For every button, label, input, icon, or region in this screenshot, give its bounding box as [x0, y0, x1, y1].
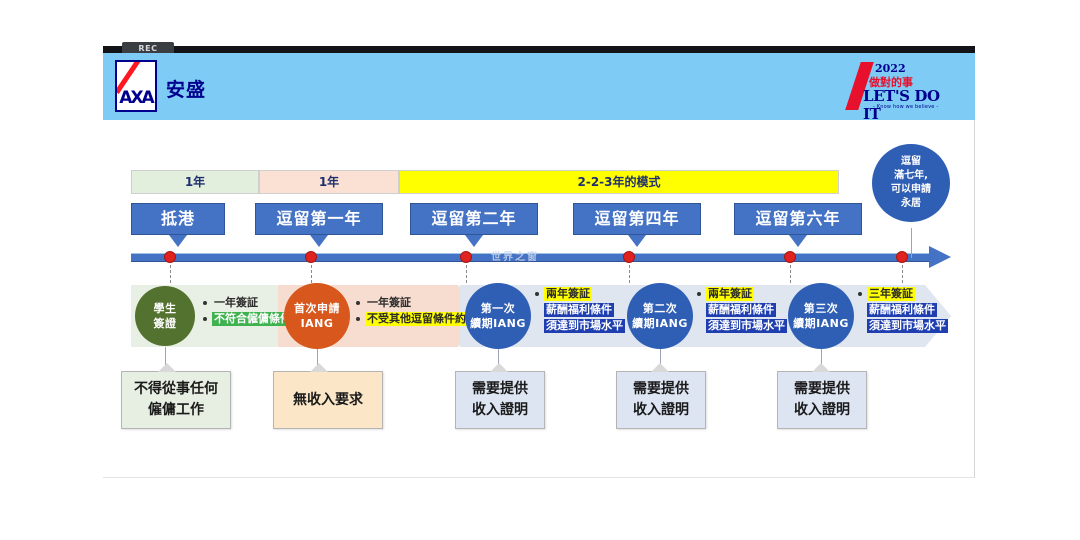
stage-1-bullet-2: 不符合僱傭條件 [212, 312, 293, 326]
slide-watermark: 世界之窗 [491, 248, 539, 263]
callout-3-line2: 收入證明 [472, 400, 528, 421]
timeline-arrowhead-icon [929, 246, 951, 268]
screenshot-root: REC AXA 安盛 2022 做對的事 LET'S DO IT - Know … [0, 0, 1080, 540]
timeline-tick-1 [170, 265, 171, 283]
callout-4-line1: 需要提供 [633, 379, 689, 400]
bullet-icon [203, 317, 207, 321]
milestone-arrow-1 [169, 235, 187, 247]
timeline-dot-1 [164, 251, 176, 263]
stage-2-bullet-2: 不受其他逗留條件約束 [365, 312, 479, 326]
bullet-icon [356, 317, 360, 321]
stage-circle-3-line2: 續期IANG [470, 316, 526, 331]
duration-segment-2-label: 1年 [260, 171, 398, 193]
stage-circle-4: 第二次 續期IANG [627, 283, 693, 349]
stage-3-bullet-1: 兩年簽証 [544, 287, 592, 301]
callout-1-line1: 不得從事任何 [134, 379, 218, 400]
callout-2-line1: 無收入要求 [293, 390, 363, 411]
callout-3-line1: 需要提供 [472, 379, 528, 400]
milestone-box-4: 逗留第四年 [573, 203, 701, 235]
callout-stem-icon [310, 363, 328, 372]
duration-segment-3-label: 2-2-3年的模式 [400, 171, 838, 193]
final-note-line1: 逗留 [891, 155, 931, 169]
timeline-tick-6 [902, 265, 903, 283]
axa-logo-icon: AXA [115, 60, 157, 112]
milestone-box-1: 抵港 [131, 203, 225, 235]
stage-1-bullet-1: 一年簽証 [212, 296, 260, 310]
callout-box-1: 不得從事任何 僱傭工作 [121, 371, 231, 429]
duration-segment-2: 1年 [259, 170, 399, 194]
stage-4-bullet-1: 兩年簽証 [706, 287, 754, 301]
timeline-dot-5 [784, 251, 796, 263]
presentation-slide: AXA 安盛 2022 做對的事 LET'S DO IT - Know how … [103, 53, 975, 478]
final-note-line3: 可以申請 [891, 183, 931, 197]
campaign-subtitle: - Know how we believe - [873, 104, 938, 110]
final-note-line2: 滿七年, [891, 169, 931, 183]
milestone-box-3: 逗留第二年 [410, 203, 538, 235]
callout-box-4: 需要提供 收入證明 [616, 371, 706, 429]
timeline-dot-2 [305, 251, 317, 263]
stage-circle-5-line1: 第三次 [804, 301, 839, 316]
stage-2-bullet-1: 一年簽証 [365, 296, 413, 310]
stage-bullets-5: 三年簽証 薪酬福利條件 須達到市場水平 [858, 287, 948, 335]
stage-circle-1-line2: 簽證 [154, 316, 177, 331]
stage-bullets-3: 兩年簽証 薪酬福利條件 須達到市場水平 [535, 287, 625, 335]
stage-circle-4-line2: 續期IANG [632, 316, 688, 331]
stage-4-bullet-3: 須達到市場水平 [706, 319, 787, 333]
axa-logo-letters: AXA [117, 88, 155, 108]
milestone-arrow-3 [465, 235, 483, 247]
stage-circle-5: 第三次 續期IANG [788, 283, 854, 349]
stage-3-bullet-3: 須達到市場水平 [544, 319, 625, 333]
milestone-arrow-4 [628, 235, 646, 247]
milestone-arrow-2 [310, 235, 328, 247]
campaign-logo: 2022 做對的事 LET'S DO IT - Know how we beli… [851, 60, 961, 112]
callout-1-line2: 僱傭工作 [148, 400, 204, 421]
timeline-dot-6 [896, 251, 908, 263]
stage-circle-3: 第一次 續期IANG [465, 283, 531, 349]
timeline-tick-2 [311, 265, 312, 283]
callout-stem-icon [158, 363, 176, 372]
stage-circle-5-line2: 續期IANG [793, 316, 849, 331]
callout-stem-icon [812, 363, 830, 372]
callout-box-5: 需要提供 收入證明 [777, 371, 867, 429]
timeline-tick-3 [466, 265, 467, 283]
callout-4-line2: 收入證明 [633, 400, 689, 421]
duration-segment-3: 2-2-3年的模式 [399, 170, 839, 194]
milestone-box-2: 逗留第一年 [255, 203, 383, 235]
stage-bullets-4: 兩年簽証 薪酬福利條件 須達到市場水平 [697, 287, 787, 335]
brand-name: 安盛 [166, 75, 206, 102]
stage-bullets-1: 一年簽証 不符合僱傭條件 [203, 296, 293, 328]
stage-circle-4-line1: 第二次 [643, 301, 678, 316]
stage-circle-2-line1: 首次申請 [294, 301, 340, 316]
bullet-icon [858, 292, 862, 296]
bullet-icon [697, 292, 701, 296]
duration-segment-1-label: 1年 [132, 171, 258, 193]
stage-bullets-2: 一年簽証 不受其他逗留條件約束 [356, 296, 479, 328]
callout-box-3: 需要提供 收入證明 [455, 371, 545, 429]
final-note-leader [911, 228, 912, 258]
milestone-arrow-5 [789, 235, 807, 247]
callout-stem-icon [490, 363, 508, 372]
stage-circle-1-line1: 學生 [154, 301, 177, 316]
stage-3-bullet-2: 薪酬福利條件 [544, 303, 614, 317]
final-note-line4: 永居 [891, 197, 931, 211]
callout-5-line2: 收入證明 [794, 400, 850, 421]
stage-circle-1: 學生 簽證 [135, 286, 195, 346]
stage-circle-3-line1: 第一次 [481, 301, 516, 316]
final-note-circle: 逗留 滿七年, 可以申請 永居 [872, 144, 950, 222]
timeline-tick-5 [790, 265, 791, 283]
callout-box-2: 無收入要求 [273, 371, 383, 429]
bullet-icon [203, 301, 207, 305]
stage-5-bullet-2: 薪酬福利條件 [867, 303, 937, 317]
stage-circle-2: 首次申請 IANG [284, 283, 350, 349]
bullet-icon [356, 301, 360, 305]
callout-5-line1: 需要提供 [794, 379, 850, 400]
slide-header: AXA 安盛 2022 做對的事 LET'S DO IT - Know how … [103, 53, 975, 120]
callout-stem-icon [651, 363, 669, 372]
duration-segment-1: 1年 [131, 170, 259, 194]
timeline-dot-4 [623, 251, 635, 263]
screen-recorder-bar [103, 46, 975, 53]
stage-5-bullet-3: 須達到市場水平 [867, 319, 948, 333]
stage-5-bullet-1: 三年簽証 [867, 287, 915, 301]
timeline-tick-4 [629, 265, 630, 283]
timeline-dot-3 [460, 251, 472, 263]
bullet-icon [535, 292, 539, 296]
stage-circle-2-line2: IANG [301, 316, 334, 331]
milestone-box-5: 逗留第六年 [734, 203, 862, 235]
stage-4-bullet-2: 薪酬福利條件 [706, 303, 776, 317]
